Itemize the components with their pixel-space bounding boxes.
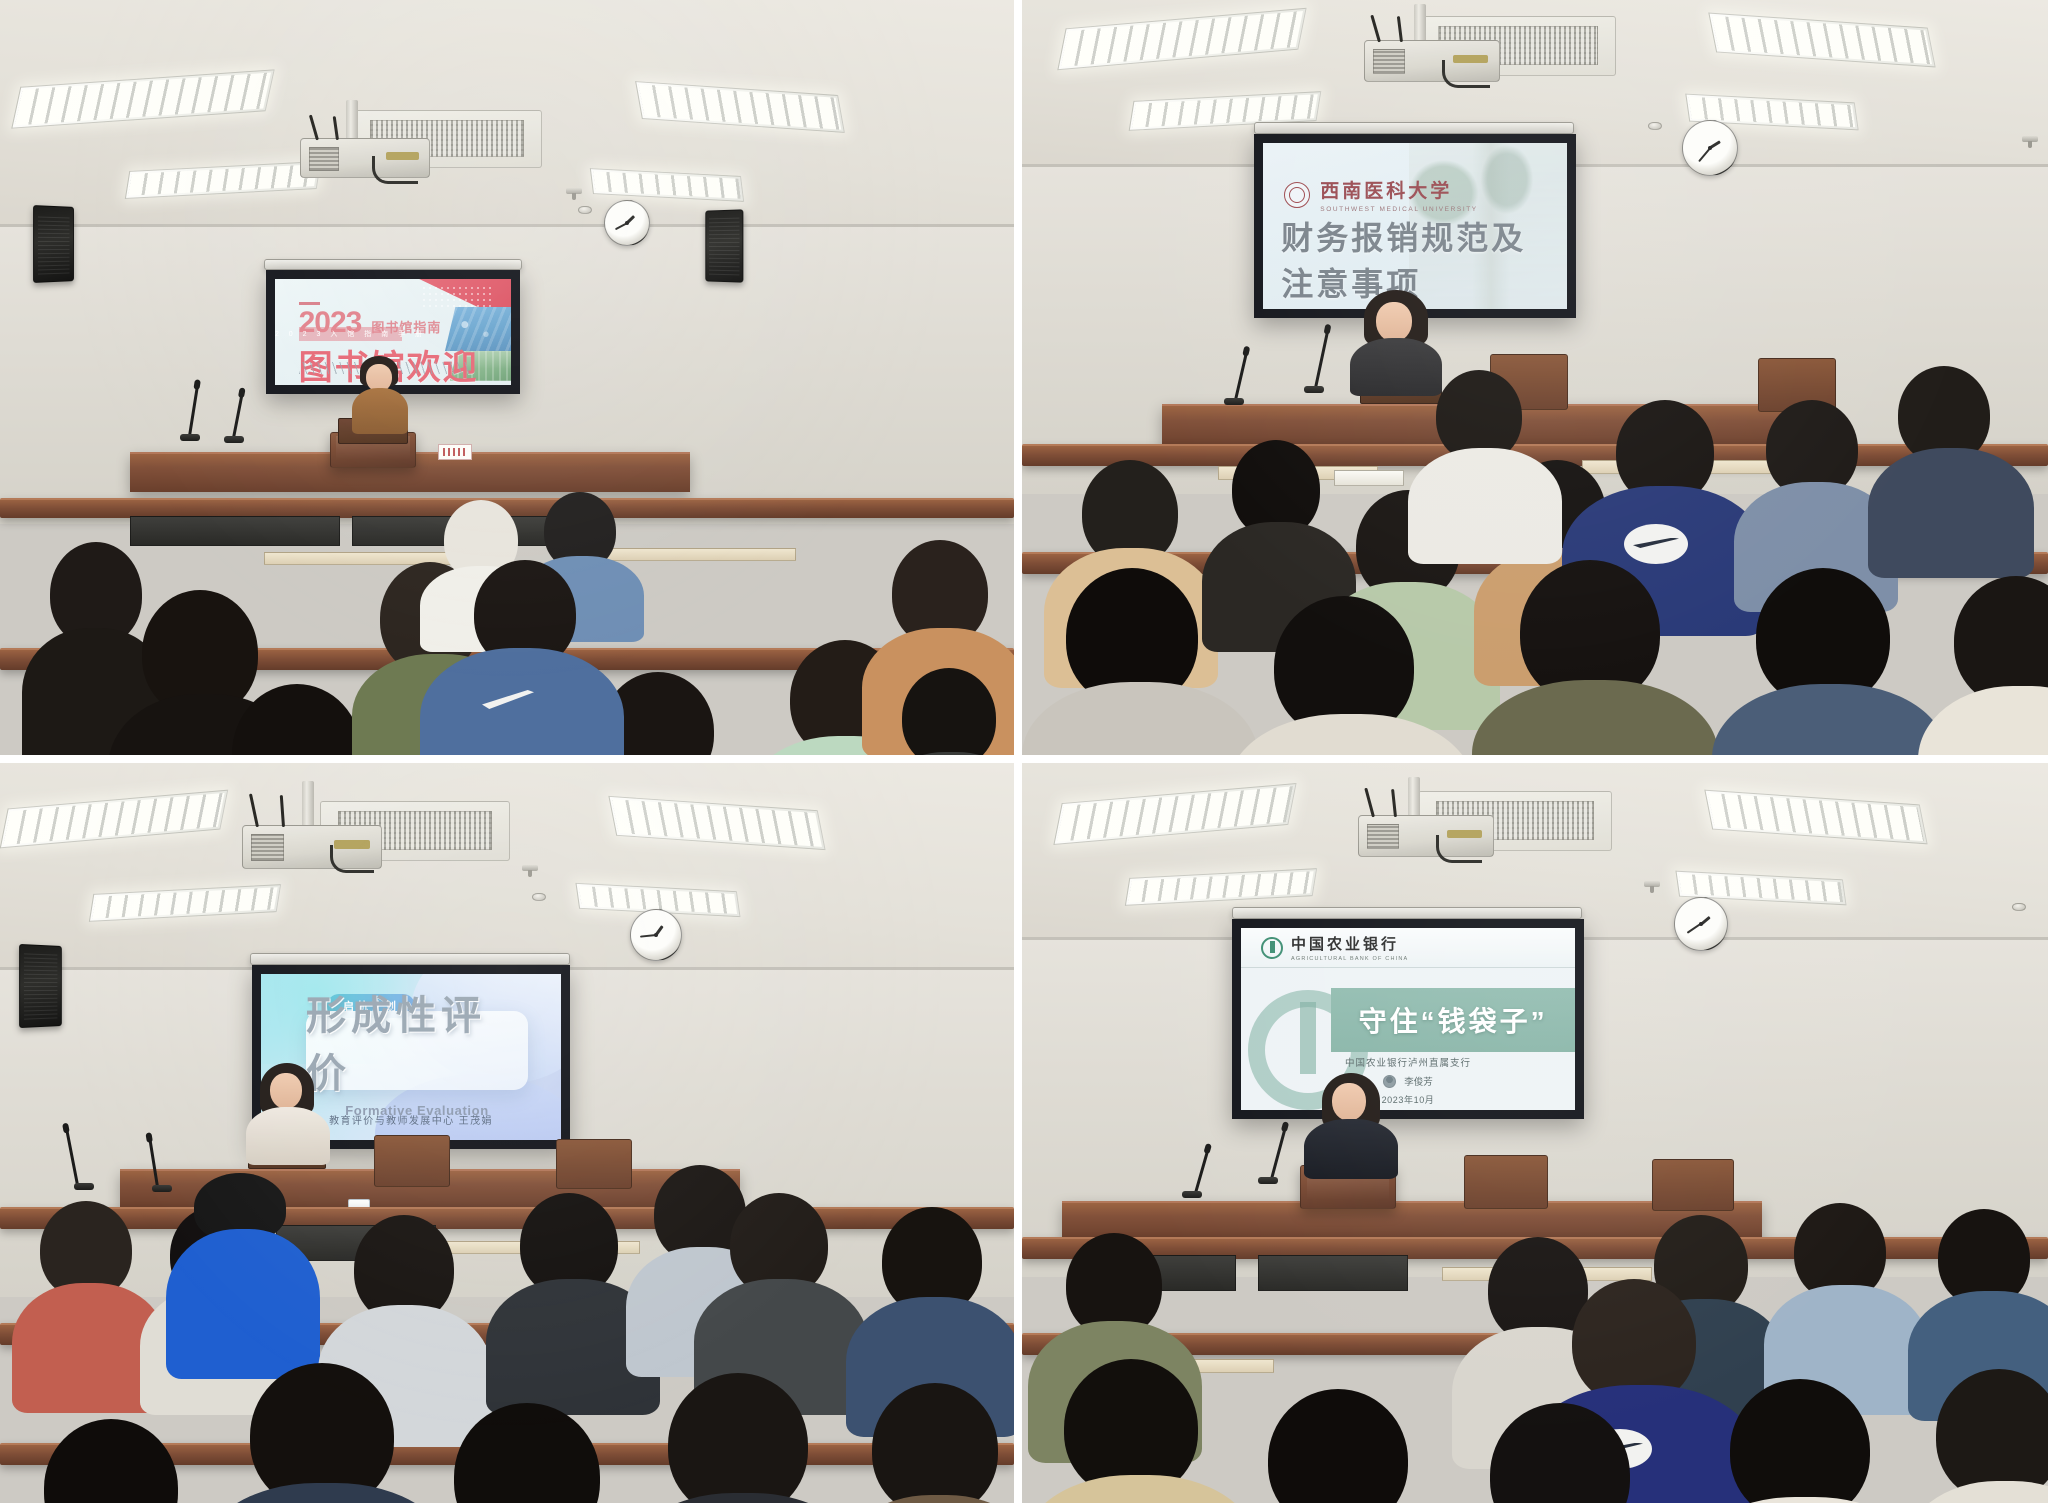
slide-rule xyxy=(299,302,320,305)
presenter-torso xyxy=(1304,1119,1398,1179)
nike-logo-icon xyxy=(1624,524,1688,564)
wall-speaker-left xyxy=(19,944,62,1028)
smoke-detector-icon xyxy=(532,893,546,901)
audience-head xyxy=(1730,1379,1870,1503)
presenter-face xyxy=(1376,302,1412,342)
microphone-base xyxy=(1304,386,1324,393)
audience-member-front xyxy=(1712,568,1942,755)
panel-bottom-left: 启航计划 形成性评价 Formative Evaluation 教育评价与教师发… xyxy=(0,763,1014,1503)
audience-head xyxy=(250,1363,394,1503)
university-name-cn: 西南医科大学 xyxy=(1320,176,1477,203)
audience-member-front xyxy=(1472,560,1712,755)
audience-member-nike xyxy=(420,560,620,755)
audience-member-front xyxy=(620,1373,860,1503)
sprinkler-icon xyxy=(1644,881,1660,887)
audience-head xyxy=(668,1373,808,1503)
slide-header-bar: 中国农业银行 AGRICULTURAL BANK OF CHINA xyxy=(1241,928,1575,968)
presenter xyxy=(1298,1073,1404,1177)
slide-title: 守住“钱袋子” xyxy=(1359,1000,1548,1040)
audience-member-front xyxy=(1222,1389,1462,1503)
audience-member-front xyxy=(1228,596,1468,755)
projector-cable xyxy=(330,845,374,873)
finance-reimbursement-slide: 西南医科大学 SOUTHWEST MEDICAL UNIVERSITY 财务报销… xyxy=(1263,143,1567,309)
presenter-face xyxy=(270,1073,302,1109)
audience-member-northface xyxy=(1408,370,1558,550)
audience-member xyxy=(874,668,1014,755)
clock-center-pin xyxy=(625,221,629,225)
wall-clock xyxy=(1682,120,1738,176)
audience-body xyxy=(836,1495,1014,1503)
clock-center-pin xyxy=(1708,146,1712,150)
microphone-base xyxy=(74,1183,94,1190)
screen-surface: 西南医科大学 SOUTHWEST MEDICAL UNIVERSITY 财务报销… xyxy=(1263,143,1567,309)
audience-head xyxy=(454,1403,600,1503)
microphone-base xyxy=(1182,1191,1202,1198)
audience-body xyxy=(620,1493,866,1503)
audience-member-cap xyxy=(166,1173,316,1373)
audience-body xyxy=(1682,1497,1928,1503)
audience-body xyxy=(1228,714,1474,755)
microphone-base xyxy=(1224,398,1244,405)
wall-ceiling-joint xyxy=(0,224,1014,227)
panel-top-right: 西南医科大学 SOUTHWEST MEDICAL UNIVERSITY 财务报销… xyxy=(1022,0,2048,755)
desk-panel xyxy=(1258,1255,1408,1291)
abc-bank-slide: 中国农业银行 AGRICULTURAL BANK OF CHINA 守住“钱袋子… xyxy=(1241,928,1575,1110)
audience-body xyxy=(1022,682,1258,755)
audience-body xyxy=(874,752,1014,755)
slide-university-logo-row: 西南医科大学 SOUTHWEST MEDICAL UNIVERSITY xyxy=(1284,176,1477,213)
projector-cable xyxy=(1436,835,1482,863)
smoke-detector-icon xyxy=(578,206,592,214)
audience-body xyxy=(420,648,624,755)
wall-clock xyxy=(1674,897,1728,951)
microphone-base xyxy=(224,436,244,443)
projection-screen-casing xyxy=(1254,122,1574,134)
chair-back xyxy=(374,1135,450,1187)
projector-mount-pole xyxy=(1408,777,1420,819)
gutter-horizontal xyxy=(0,755,2048,763)
smoke-detector-icon xyxy=(2012,903,2026,911)
audience-member-front xyxy=(836,1383,1014,1503)
slide-title-cn: 形成性评价 xyxy=(306,983,528,1099)
gutter-vertical xyxy=(1014,0,1022,755)
university-crest-icon xyxy=(1284,182,1310,208)
slide-presenter-name: 李俊芳 xyxy=(1404,1074,1433,1088)
projector-cable xyxy=(1442,60,1490,88)
slide-dot-pattern xyxy=(421,285,492,308)
presenter-torso xyxy=(246,1107,330,1165)
slide-pink-bar-text: 2 0 2 3 入 馆 指 南 手 册 xyxy=(275,329,426,339)
gutter-vertical xyxy=(1014,763,1022,1503)
audience-head xyxy=(872,1383,998,1503)
audience-head xyxy=(902,668,996,755)
audience-head xyxy=(44,1419,178,1503)
audience-member xyxy=(1764,1203,1924,1403)
projection-screen-casing xyxy=(250,953,570,965)
wall-speaker-right xyxy=(705,209,743,282)
clock-center-pin xyxy=(1699,922,1703,926)
audience-head xyxy=(1490,1403,1630,1503)
presenter xyxy=(340,356,420,436)
photo-collage: 2023 图书馆指南 2 0 2 3 入 馆 指 南 手 册 图书馆欢迎您！ xyxy=(0,0,2048,1503)
microphone-base xyxy=(1258,1177,1278,1184)
wall-speaker-left xyxy=(33,205,74,283)
presenter-torso xyxy=(352,388,408,434)
wall-clock xyxy=(604,200,650,246)
slide-footer: 中国农业银行泸州直属支行 李俊芳 2023年10月 xyxy=(1241,1055,1575,1106)
audience-member-front xyxy=(1902,1369,2048,1503)
panel-top-left: 2023 图书馆指南 2 0 2 3 入 馆 指 南 手 册 图书馆欢迎您！ xyxy=(0,0,1014,755)
audience-member-front xyxy=(1682,1379,1922,1503)
projector-mount-pole xyxy=(346,100,358,142)
audience-head xyxy=(232,684,362,755)
ceiling xyxy=(0,763,1014,973)
projector-mount-pole xyxy=(302,781,314,827)
audience-member-front xyxy=(1442,1403,1682,1503)
bank-name-cn: 中国农业银行 xyxy=(1291,933,1408,954)
audience-body xyxy=(1902,1481,2048,1503)
microphone-base xyxy=(180,434,200,441)
slide-pink-bar: 2 0 2 3 入 馆 指 南 手 册 xyxy=(299,327,403,341)
audience-body xyxy=(1472,680,1718,755)
sprinkler-icon xyxy=(522,865,538,871)
presenter-face xyxy=(1332,1083,1366,1121)
name-placard xyxy=(438,444,472,460)
smoke-detector-icon xyxy=(1648,122,1662,130)
slide-branch: 中国农业银行泸州直属支行 xyxy=(1345,1055,1471,1069)
clock-center-pin xyxy=(654,933,658,937)
chair-back xyxy=(1464,1155,1548,1209)
slide-title-card: 形成性评价 Formative Evaluation xyxy=(306,1011,528,1091)
audience-body xyxy=(1868,448,2034,578)
sprinkler-icon xyxy=(566,188,582,194)
audience-head xyxy=(1268,1389,1408,1503)
audience-member-front xyxy=(1022,568,1252,755)
audience-body xyxy=(1712,684,1948,755)
audience-member xyxy=(694,1193,864,1403)
projection-screen-casing xyxy=(1232,907,1582,919)
wall-clock xyxy=(630,909,682,961)
slide-title-band: 守住“钱袋子” xyxy=(1331,988,1575,1052)
screen-surface: 中国农业银行 AGRICULTURAL BANK OF CHINA 守住“钱袋子… xyxy=(1241,928,1575,1110)
projector-mount-pole xyxy=(1414,4,1426,44)
sprinkler-icon xyxy=(2022,136,2038,142)
audience-body xyxy=(1408,448,1562,564)
audience-member xyxy=(1868,366,2028,566)
audience-member-front xyxy=(1918,576,2048,755)
audience-body xyxy=(166,1229,320,1379)
abc-bank-logo-icon xyxy=(1261,937,1283,959)
projector-cable xyxy=(372,156,418,184)
audience-member-front xyxy=(1022,1359,1252,1503)
chair-back xyxy=(556,1139,632,1189)
audience-body xyxy=(1918,686,2048,755)
bank-name-en: AGRICULTURAL BANK OF CHINA xyxy=(1291,956,1408,962)
presenter xyxy=(238,1063,338,1163)
projection-screen: 中国农业银行 AGRICULTURAL BANK OF CHINA 守住“钱袋子… xyxy=(1232,919,1584,1119)
chair-back xyxy=(1652,1159,1734,1211)
projection-screen-casing xyxy=(264,259,522,270)
audience-member-front xyxy=(400,1403,650,1503)
panel-bottom-right: 中国农业银行 AGRICULTURAL BANK OF CHINA 守住“钱袋子… xyxy=(1022,763,2048,1503)
audience-member-front xyxy=(0,1419,230,1503)
